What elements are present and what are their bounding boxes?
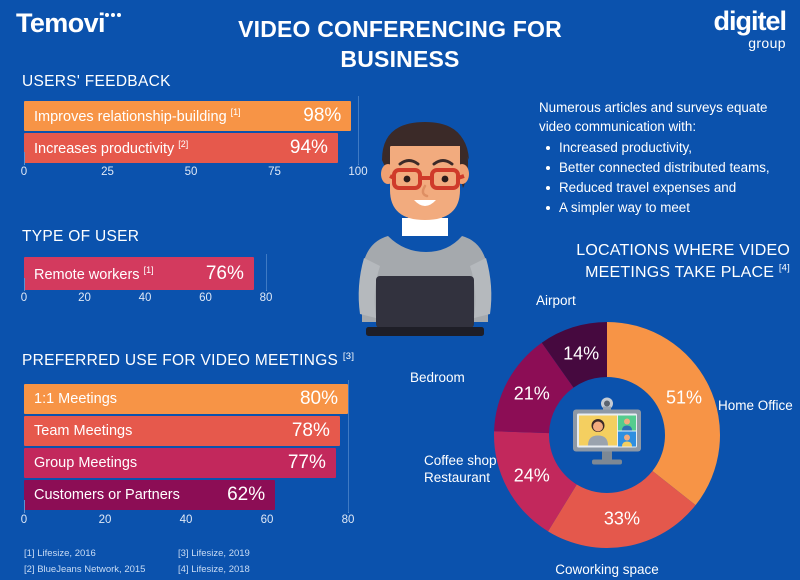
bar-value: 77%	[288, 452, 326, 474]
list-item: Better connected distributed teams,	[559, 158, 797, 178]
bar-label: Increases productivity [2]	[34, 139, 188, 157]
intro-text-block: Numerous articles and surveys equate vid…	[539, 98, 797, 219]
locations-heading-line-2: MEETINGS TAKE PLACE [4]	[520, 262, 790, 284]
donut-category-label: Coffee shopRestaurant	[424, 453, 497, 487]
axis-tick: 0	[21, 166, 27, 178]
digitel-logo-word: digitel	[714, 8, 787, 35]
footnote-2: [2] BlueJeans Network, 2015	[24, 564, 145, 575]
axis-tick: 20	[78, 292, 91, 304]
axis-tick-line	[24, 500, 25, 513]
axis-tick: 80	[260, 292, 273, 304]
digitel-group-logo: digitel group	[714, 8, 787, 50]
axis-end-gridline	[348, 380, 349, 512]
bar-increases-productivity: Increases productivity [2] 94%	[24, 133, 338, 163]
bar-team-meetings: Team Meetings 78%	[24, 416, 340, 446]
donut-slice-value: 24%	[514, 465, 550, 486]
donut-slice-value: 33%	[604, 509, 640, 530]
video-call-monitor-icon	[569, 398, 645, 473]
x-axis-preferred-use: 020406080	[24, 514, 348, 530]
axis-tick-line	[24, 278, 25, 291]
axis-tick-line	[85, 278, 86, 291]
bar-label: Improves relationship-building [1]	[34, 107, 241, 125]
donut-slice-value: 51%	[666, 387, 702, 408]
bar-value: 78%	[292, 420, 330, 442]
section-heading-type-of-user: TYPE OF USER	[22, 228, 139, 246]
axis-tick-line	[275, 152, 276, 165]
axis-tick: 0	[21, 292, 27, 304]
donut-category-label: Bedroom	[410, 370, 465, 387]
bar-label: Group Meetings	[34, 455, 137, 471]
temovi-logo-text: Temovi	[16, 8, 105, 38]
axis-tick-line	[24, 152, 25, 165]
list-item: A simpler way to meet	[559, 198, 797, 218]
axis-tick-line	[191, 152, 192, 165]
axis-tick: 40	[139, 292, 152, 304]
donut-slice-value: 14%	[563, 343, 599, 364]
donut-category-label: Airport	[536, 293, 576, 310]
axis-tick: 20	[99, 514, 112, 526]
section-heading-preferred-use: PREFERRED USE FOR VIDEO MEETINGS [3]	[22, 351, 354, 370]
footnote-1: [1] Lifesize, 2016	[24, 548, 96, 559]
axis-tick-line	[267, 500, 268, 513]
axis-tick-line	[186, 500, 187, 513]
page-title-line-2: BUSINESS	[230, 44, 570, 74]
axis-tick-line	[206, 278, 207, 291]
x-axis-type-of-user: 020406080	[24, 292, 266, 308]
bar-value: 80%	[300, 388, 338, 410]
axis-tick: 60	[261, 514, 274, 526]
bar-1-1-meetings: 1:1 Meetings 80%	[24, 384, 348, 414]
list-item: Reduced travel expenses and	[559, 178, 797, 198]
footnote-3: [3] Lifesize, 2019	[178, 548, 250, 559]
person-at-laptop-illustration	[330, 108, 520, 340]
axis-tick-line	[105, 500, 106, 513]
bar-label: Customers or Partners	[34, 487, 180, 503]
page-title-line-1: VIDEO CONFERENCING FOR	[230, 14, 570, 44]
three-dots-icon	[105, 10, 121, 11]
axis-tick-line	[108, 152, 109, 165]
temovi-logo: Temovi	[16, 10, 121, 37]
axis-tick: 50	[185, 166, 198, 178]
x-axis-users-feedback: 0255075100	[24, 166, 358, 182]
donut-category-label: Coworking space	[555, 562, 659, 579]
digitel-logo-subtitle: group	[714, 36, 787, 50]
locations-heading-line-1: LOCATIONS WHERE VIDEO	[520, 240, 790, 262]
axis-tick: 80	[342, 514, 355, 526]
section-heading-locations: LOCATIONS WHERE VIDEO MEETINGS TAKE PLAC…	[520, 240, 790, 283]
section-heading-users-feedback: USERS' FEEDBACK	[22, 73, 171, 91]
bar-value: 94%	[290, 137, 328, 159]
chart-locations-donut: 51%Home Office33%Coworking space24%Coffe…	[492, 320, 722, 550]
axis-tick: 25	[101, 166, 114, 178]
bar-customers-or-partners: Customers or Partners 62%	[24, 480, 275, 510]
bar-label: Remote workers [1]	[34, 265, 154, 283]
axis-tick: 75	[268, 166, 281, 178]
axis-tick: 0	[21, 514, 27, 526]
axis-end-gridline	[266, 254, 267, 290]
bar-value: 76%	[206, 263, 244, 285]
list-item: Increased productivity,	[559, 138, 797, 158]
footnote-4: [4] Lifesize, 2018	[178, 564, 250, 575]
bar-remote-workers: Remote workers [1] 76%	[24, 257, 254, 290]
intro-lead: Numerous articles and surveys equate vid…	[539, 98, 797, 137]
infographic-canvas: Temovi digitel group VIDEO CONFERENCING …	[0, 0, 800, 580]
axis-tick-line	[145, 278, 146, 291]
donut-category-label: Home Office	[718, 398, 793, 415]
axis-tick: 60	[199, 292, 212, 304]
axis-tick: 40	[180, 514, 193, 526]
bar-value: 62%	[227, 484, 265, 506]
bar-label: Team Meetings	[34, 423, 132, 439]
bar-group-meetings: Group Meetings 77%	[24, 448, 336, 478]
intro-bullet-list: Increased productivity, Better connected…	[539, 138, 797, 219]
donut-slice-value: 21%	[514, 384, 550, 405]
bar-improves-relationship-building: Improves relationship-building [1] 98%	[24, 101, 351, 131]
bar-label: 1:1 Meetings	[34, 391, 117, 407]
page-title: VIDEO CONFERENCING FOR BUSINESS	[230, 14, 570, 75]
